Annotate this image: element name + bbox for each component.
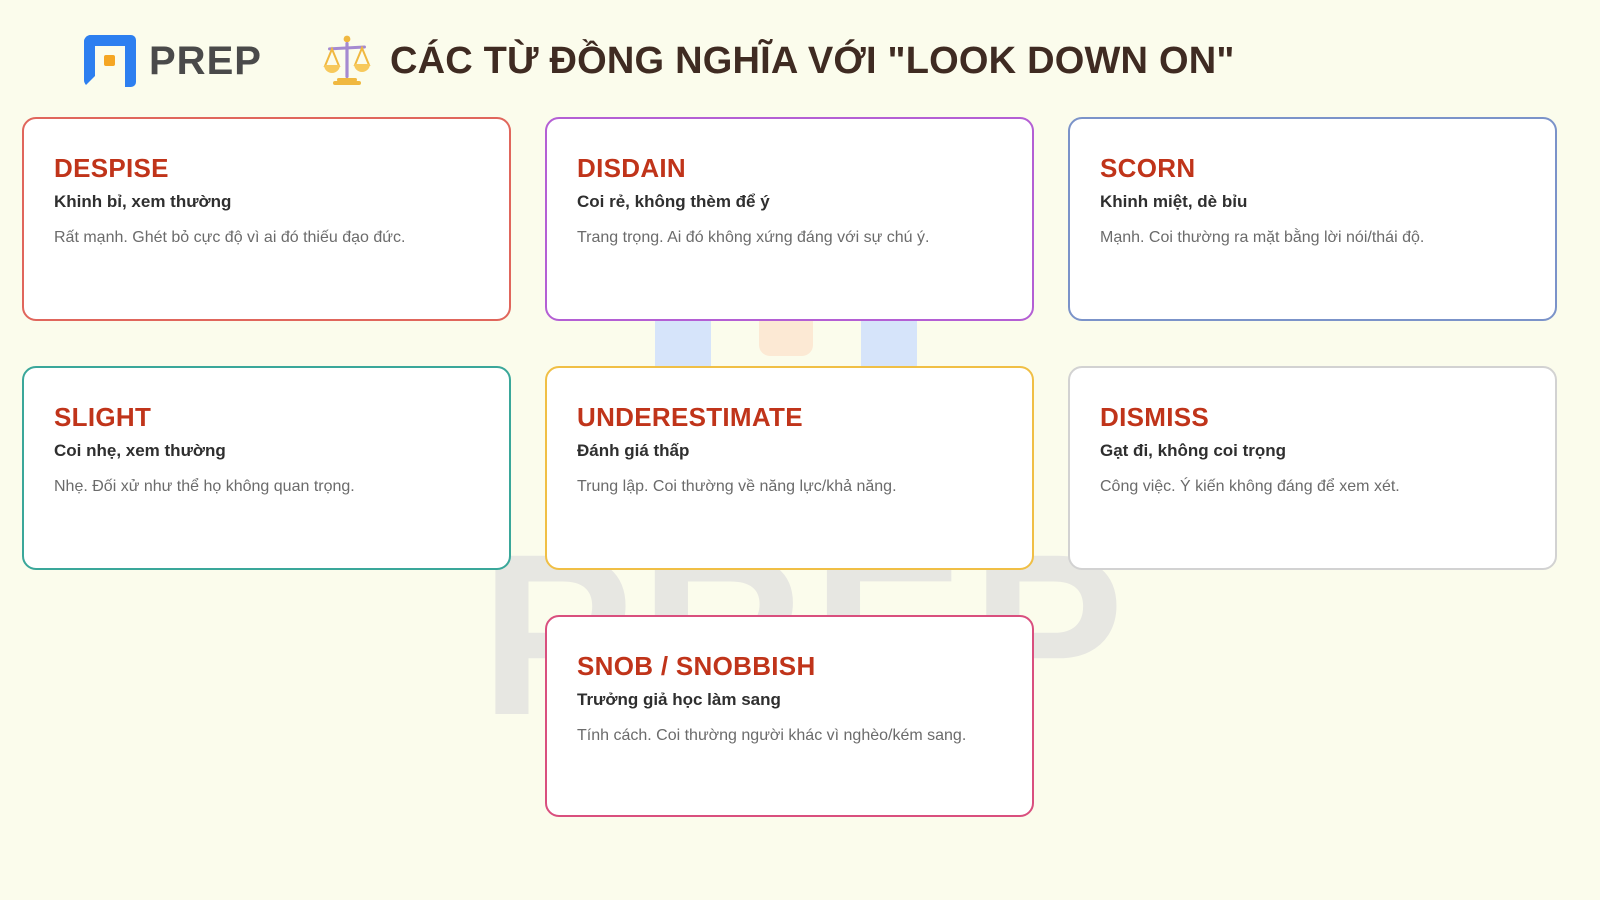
card-term: DISDAIN	[577, 155, 1002, 182]
card-translation: Khinh bỉ, xem thường	[54, 191, 479, 212]
page-header: PREP CÁC TỪ ĐỒNG NGHĨA VỚI "LOOK DOWN ON…	[0, 0, 1600, 88]
synonym-card-scorn: SCORN Khinh miệt, dè bỉu Mạnh. Coi thườn…	[1068, 117, 1557, 321]
card-term: DESPISE	[54, 155, 479, 182]
card-note: Nhẹ. Đối xử như thể họ không quan trọng.	[54, 476, 479, 498]
card-translation: Coi rẻ, không thèm để ý	[577, 191, 1002, 212]
brand-name: PREP	[149, 39, 262, 84]
card-translation: Trưởng giả học làm sang	[577, 689, 1002, 710]
synonym-card-dismiss: DISMISS Gạt đi, không coi trọng Công việ…	[1068, 366, 1557, 570]
prep-logo-icon	[84, 35, 136, 87]
card-term: UNDERESTIMATE	[577, 404, 1002, 431]
balance-scales-icon	[322, 34, 372, 88]
card-note: Công việc. Ý kiến không đáng để xem xét.	[1100, 476, 1525, 498]
brand-logo: PREP	[84, 35, 262, 87]
synonym-card-despise: DESPISE Khinh bỉ, xem thường Rất mạnh. G…	[22, 117, 511, 321]
page-title: CÁC TỪ ĐỒNG NGHĨA VỚI "LOOK DOWN ON"	[390, 40, 1235, 83]
card-term: SLIGHT	[54, 404, 479, 431]
card-translation: Đánh giá thấp	[577, 440, 1002, 461]
card-term: SCORN	[1100, 155, 1525, 182]
card-note: Trang trọng. Ai đó không xứng đáng với s…	[577, 227, 1002, 249]
synonym-card-snob: SNOB / SNOBBISH Trưởng giả học làm sang …	[545, 615, 1034, 817]
card-translation: Gạt đi, không coi trọng	[1100, 440, 1525, 461]
card-term: SNOB / SNOBBISH	[577, 653, 1002, 680]
card-translation: Khinh miệt, dè bỉu	[1100, 191, 1525, 212]
synonym-card-grid: DESPISE Khinh bỉ, xem thường Rất mạnh. G…	[0, 117, 1600, 817]
card-term: DISMISS	[1100, 404, 1525, 431]
synonym-card-slight: SLIGHT Coi nhẹ, xem thường Nhẹ. Đối xử n…	[22, 366, 511, 570]
synonym-card-underestimate: UNDERESTIMATE Đánh giá thấp Trung lập. C…	[545, 366, 1034, 570]
card-note: Rất mạnh. Ghét bỏ cực độ vì ai đó thiếu …	[54, 227, 479, 249]
synonym-card-disdain: DISDAIN Coi rẻ, không thèm để ý Trang tr…	[545, 117, 1034, 321]
card-note: Tính cách. Coi thường người khác vì nghè…	[577, 725, 1002, 747]
card-translation: Coi nhẹ, xem thường	[54, 440, 479, 461]
title-group: CÁC TỪ ĐỒNG NGHĨA VỚI "LOOK DOWN ON"	[322, 34, 1235, 88]
card-note: Mạnh. Coi thường ra mặt bằng lời nói/thá…	[1100, 227, 1525, 249]
card-note: Trung lập. Coi thường về năng lực/khả nă…	[577, 476, 1002, 498]
